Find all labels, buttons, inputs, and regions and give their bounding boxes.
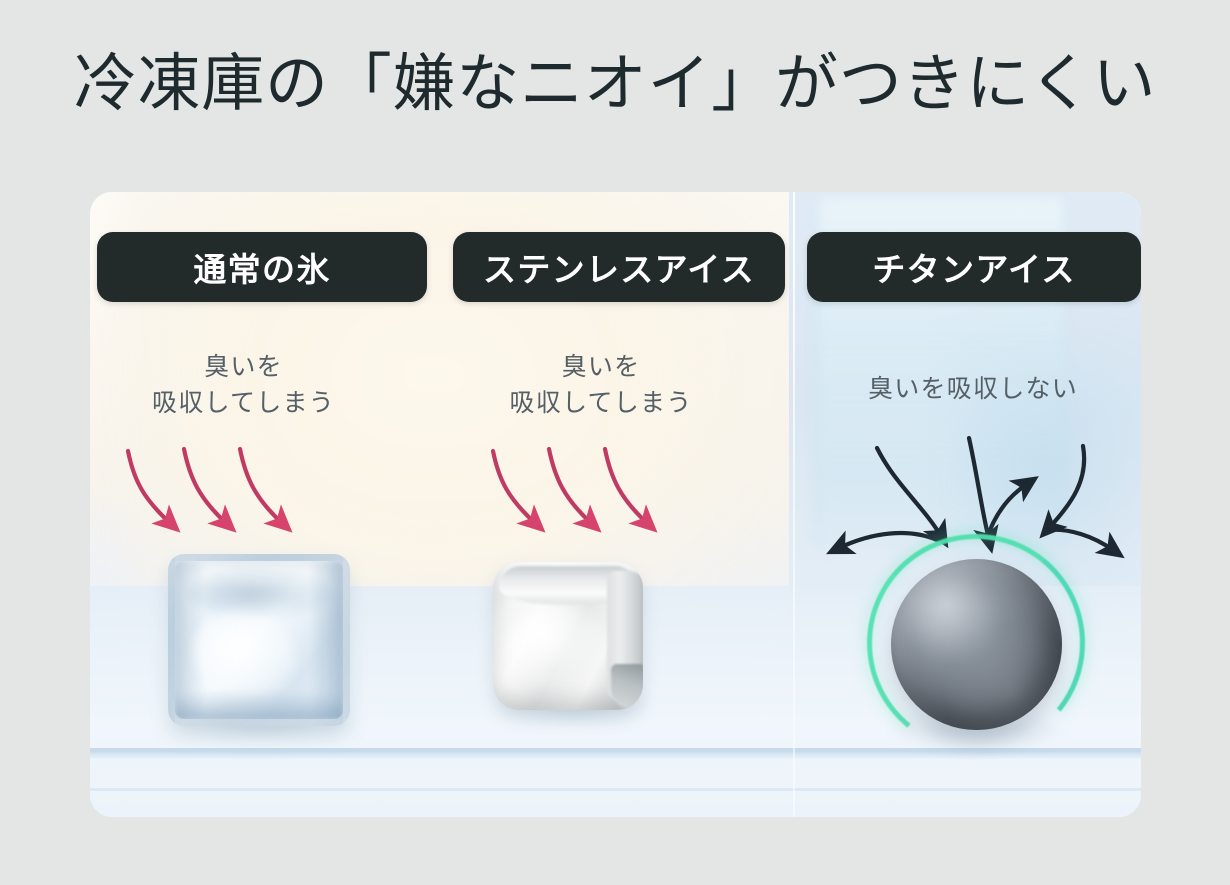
page-title: 冷凍庫の「嫌なニオイ」がつきにくい xyxy=(0,52,1230,116)
panel-label-stainless-ice: ステンレスアイス xyxy=(453,232,785,302)
panel-row: 通常の氷 臭いを 吸収してしまう xyxy=(90,192,1141,817)
ice-cube-object xyxy=(168,554,350,726)
panel-caption-normal-ice: 臭いを 吸収してしまう xyxy=(90,350,421,421)
comparison-card: 通常の氷 臭いを 吸収してしまう xyxy=(90,192,1141,817)
absorb-arrows-stainless-ice xyxy=(483,437,733,572)
ice-facet-bottom xyxy=(175,691,343,721)
panel-label-normal-ice: 通常の氷 xyxy=(97,232,427,302)
absorb-arrows-normal-ice xyxy=(118,437,368,572)
panel-caption-titanium-ice: 臭いを吸収しない xyxy=(799,372,1141,408)
titanium-rim-light xyxy=(891,559,1062,730)
stainless-highlight xyxy=(508,606,610,689)
stainless-cube-object xyxy=(493,562,643,710)
panel-caption-stainless-ice: 臭いを 吸収してしまう xyxy=(427,350,775,421)
panel-titanium-ice: チタンアイス 臭いを吸収しない xyxy=(793,192,1141,817)
titanium-sphere-object xyxy=(891,559,1062,730)
panel-label-titanium-ice: チタンアイス xyxy=(807,232,1141,302)
stainless-corner-tab xyxy=(611,664,643,708)
panel-normal-ice: 通常の氷 臭いを 吸収してしまう xyxy=(90,192,445,817)
panel-stainless-ice: ステンレスアイス 臭いを 吸収してしまう xyxy=(445,192,793,817)
